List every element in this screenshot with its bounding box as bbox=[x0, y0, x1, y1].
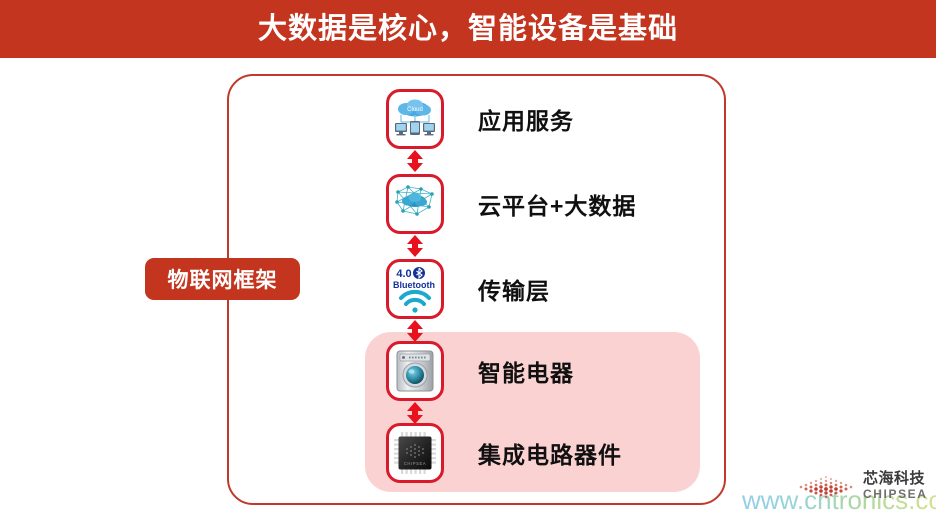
chipsea-logo-en: CHIPSEA bbox=[863, 487, 933, 501]
layer-label-cloud-bigdata: 云平台+大数据 bbox=[478, 174, 636, 234]
svg-text:Bluetooth: Bluetooth bbox=[393, 280, 435, 290]
layer-row-ic-devices[interactable]: CHIPSEA 集成电路器件 bbox=[386, 423, 706, 483]
icon-box-application-services[interactable]: Cloud bbox=[386, 89, 444, 149]
connector-arrow-2 bbox=[406, 235, 424, 257]
slide-canvas: 大数据是核心，智能设备是基础 物联网框架 Cloud bbox=[0, 0, 936, 523]
icon-box-transport[interactable]: 4.0 Bluetooth bbox=[386, 259, 444, 319]
chipsea-logo-text: 芯海科技 CHIPSEA bbox=[863, 470, 933, 501]
layer-row-application-services[interactable]: Cloud 应用服务 bbox=[386, 89, 706, 149]
connector-arrow-3 bbox=[406, 320, 424, 342]
layer-label-smart-appliance: 智能电器 bbox=[478, 341, 574, 401]
icon-box-cloud-bigdata[interactable] bbox=[386, 174, 444, 234]
icon-box-ic-devices[interactable]: CHIPSEA bbox=[386, 423, 444, 483]
connector-arrow-4 bbox=[406, 402, 424, 424]
washing-machine-icon bbox=[393, 347, 437, 395]
header-banner: 大数据是核心，智能设备是基础 bbox=[0, 0, 936, 58]
svg-text:CHIPSEA: CHIPSEA bbox=[404, 461, 427, 466]
chipsea-logo-mark bbox=[795, 473, 857, 505]
ic-chip-icon: CHIPSEA bbox=[392, 430, 438, 476]
layer-label-ic-devices: 集成电路器件 bbox=[478, 423, 622, 483]
layer-row-smart-appliance[interactable]: 智能电器 bbox=[386, 341, 706, 401]
chipsea-logo: 芯海科技 CHIPSEA bbox=[795, 468, 930, 510]
icon-box-smart-appliance[interactable] bbox=[386, 341, 444, 401]
layer-row-cloud-bigdata[interactable]: 云平台+大数据 bbox=[386, 174, 706, 234]
connector-arrow-1 bbox=[406, 150, 424, 172]
chipsea-logo-cn: 芯海科技 bbox=[863, 470, 933, 487]
cloud-devices-icon: Cloud bbox=[391, 95, 439, 143]
layer-label-application-services: 应用服务 bbox=[478, 89, 574, 149]
cloud-network-icon bbox=[391, 180, 439, 228]
layer-row-transport[interactable]: 4.0 Bluetooth 传输层 bbox=[386, 259, 706, 319]
page-title: 大数据是核心，智能设备是基础 bbox=[0, 8, 936, 50]
bluetooth-wifi-icon: 4.0 Bluetooth bbox=[390, 264, 440, 314]
svg-text:4.0: 4.0 bbox=[396, 268, 411, 280]
framework-label-text: 物联网框架 bbox=[168, 264, 278, 294]
layer-label-transport: 传输层 bbox=[478, 259, 550, 319]
svg-text:Cloud: Cloud bbox=[407, 107, 423, 113]
framework-label-tab: 物联网框架 bbox=[145, 258, 300, 300]
